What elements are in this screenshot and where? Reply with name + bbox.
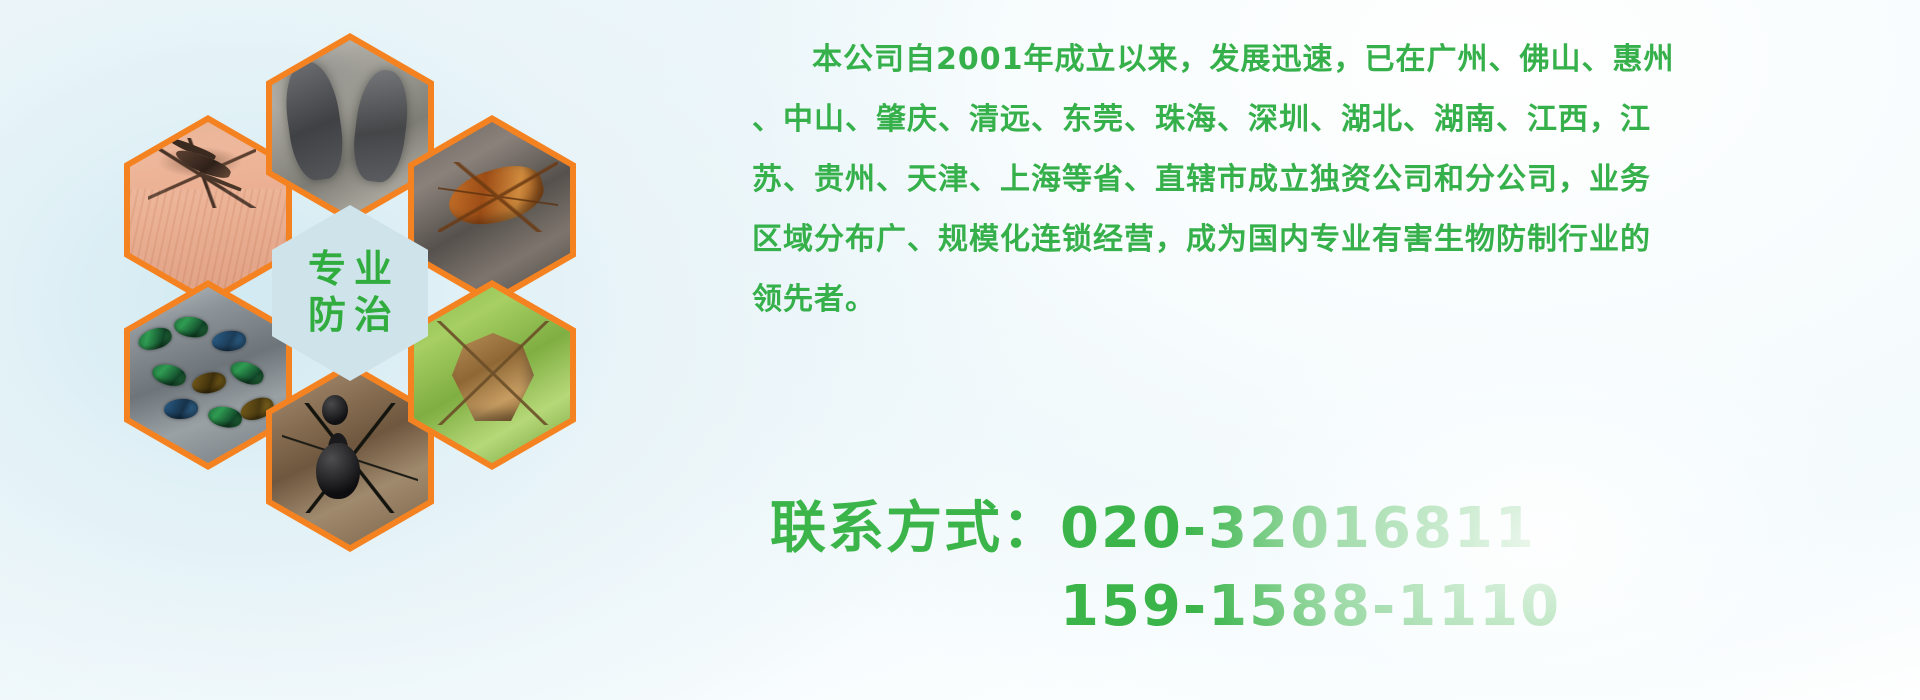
intro-line-3: 苏、贵州、天津、上海等省、直辖市成立独资公司和分公司，业务	[752, 150, 1902, 210]
ant-hex-inner	[272, 369, 428, 545]
flies-hex-inner	[130, 287, 286, 463]
honeycomb-logo: 专业 防治	[96, 8, 596, 568]
logo-slogan-line2: 防治	[300, 296, 400, 336]
contact-block: 联系方式：020-32016811 159-1588-1110	[770, 490, 1870, 646]
logo-slogan-line1: 专业	[300, 250, 400, 290]
stinkbug-photo	[414, 287, 570, 463]
logo-text-hex-inner: 专业 防治	[272, 205, 428, 381]
mosquito-hex-inner	[130, 122, 286, 298]
stinkbug-hex-inner	[414, 287, 570, 463]
intro-line-5: 领先者。	[752, 270, 1902, 330]
logo-slogan: 专业 防治	[272, 205, 428, 381]
intro-line-1: 本公司自2001年成立以来，发展迅速，已在广州、佛山、惠州	[752, 30, 1902, 90]
ant-photo	[272, 369, 428, 545]
cockroach-hex-inner	[414, 122, 570, 298]
mosquito-photo	[130, 122, 286, 298]
contact-phone-secondary[interactable]: 159-1588-1110	[770, 568, 1870, 646]
company-intro-banner: 专业 防治 本公司自2001年成立以来，发展迅速，已在广州、佛山、惠州 、中山、…	[0, 0, 1920, 700]
flies-photo	[130, 287, 286, 463]
intro-line-4: 区域分布广、规模化连锁经营，成为国内专业有害生物防制行业的	[752, 210, 1902, 270]
rats-photo	[272, 40, 428, 216]
rats-hex-inner	[272, 40, 428, 216]
company-intro-paragraph: 本公司自2001年成立以来，发展迅速，已在广州、佛山、惠州 、中山、肇庆、清远、…	[752, 30, 1902, 330]
cockroach-photo	[414, 122, 570, 298]
intro-line-2: 、中山、肇庆、清远、东莞、珠海、深圳、湖北、湖南、江西，江	[752, 90, 1902, 150]
contact-phone-primary[interactable]: 联系方式：020-32016811	[770, 490, 1870, 568]
